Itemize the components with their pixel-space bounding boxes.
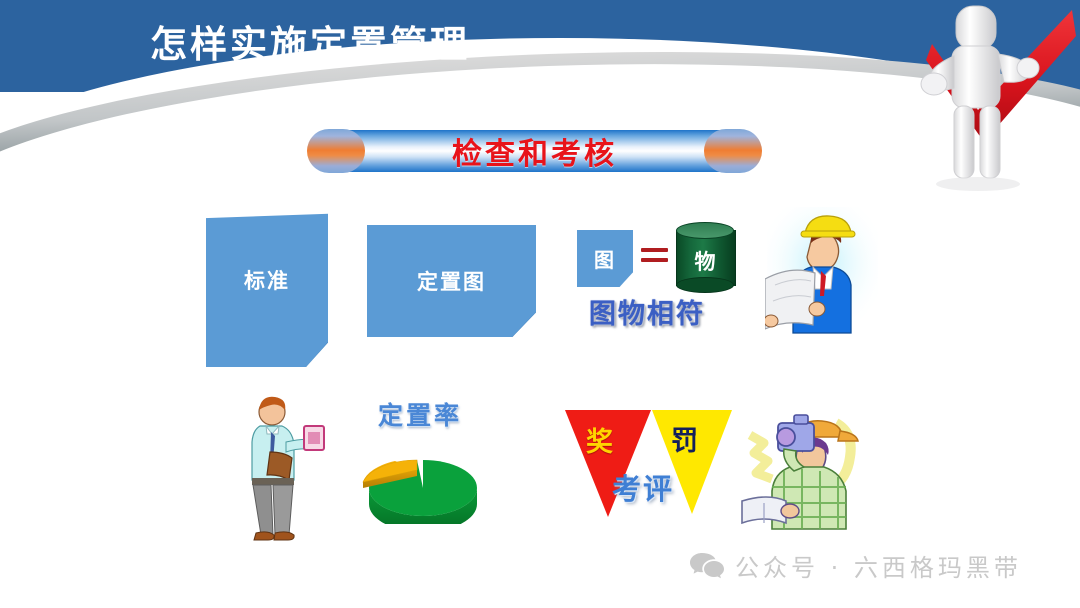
layout-label: 定置图 — [417, 266, 486, 296]
standard-document-shape: 标准 — [206, 192, 328, 367]
placement-rate-label: 定置率 — [378, 396, 462, 432]
slide-canvas: 怎样实施定置管理 — [0, 0, 1080, 608]
assessment-label: 考评 — [612, 466, 674, 508]
object-label: 物 — [676, 240, 734, 282]
penalty-label: 罚 — [671, 419, 698, 458]
wechat-bubbles-icon — [690, 552, 724, 579]
inspector-with-camera-icon — [740, 405, 860, 530]
reward-label: 奖 — [586, 420, 613, 459]
cylinder-top — [676, 222, 734, 239]
layout-diagram-shape: 定置图 — [367, 225, 536, 337]
page-title: 怎样实施定置管理 — [150, 14, 470, 68]
watermark: 公众号 · 六西格玛黑带 — [690, 548, 1022, 583]
object-cylinder-shape: 物 — [676, 222, 734, 292]
man-reading-document-icon — [240, 390, 325, 545]
placement-rate-pie-chart — [355, 442, 490, 524]
standard-label: 标准 — [244, 265, 290, 295]
figure-holding-checkmark-icon — [900, 2, 1080, 192]
engineer-with-blueprint-icon — [765, 205, 880, 335]
diagram-label: 图 — [594, 244, 616, 273]
diagram-matches-object-caption: 图物相符 — [589, 292, 705, 331]
watermark-text: 公众号 · 六西格玛黑带 — [735, 548, 1022, 583]
diagram-small-shape: 图 — [577, 230, 633, 287]
equals-sign-icon — [641, 248, 668, 268]
page-fold-corner — [306, 342, 328, 367]
section-banner: 检查和考核 — [307, 129, 762, 173]
page-fold-corner — [620, 272, 633, 287]
page-fold-corner — [512, 312, 536, 337]
banner-label: 检查和考核 — [307, 129, 762, 173]
